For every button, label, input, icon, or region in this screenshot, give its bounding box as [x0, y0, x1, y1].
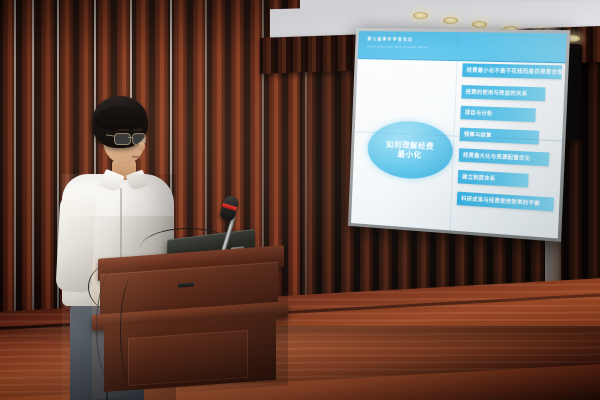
- slide-bullet-text: 建立制度体系: [462, 173, 496, 182]
- slide-bullet-text: 经费的使用与效益的关系: [466, 88, 528, 97]
- power-cable: [120, 276, 147, 388]
- presenter-nose: [139, 142, 145, 151]
- slide-bullet-text: 科研成果与经费使用效率的平衡: [461, 195, 540, 207]
- screen-surface: 第七届青年学者论坛 Cost-reduction with clinical f…: [351, 31, 567, 238]
- slide-topic-oval: 如何理解经费 最小化: [367, 120, 454, 181]
- slide-bullet-bar: 项目与分析: [460, 106, 535, 122]
- slide: 第七届青年学者论坛 Cost-reduction with clinical f…: [351, 31, 567, 238]
- downlight-icon: [443, 17, 458, 24]
- slide-bullet-bar: 经费的使用与效益的关系: [461, 85, 545, 101]
- slide-bullet-bar: 建立制度体系: [458, 170, 529, 188]
- glasses-icon: [114, 133, 131, 145]
- projection-screen: 第七届青年学者论坛 Cost-reduction with clinical f…: [348, 28, 570, 242]
- slide-bullet-list: 经费最小化不是不花钱而是花得更合理 经费的使用与效益的关系 项目与分析 预算与结…: [456, 63, 562, 219]
- slide-topic-line-2: 最小化: [397, 149, 421, 160]
- slide-header-title-cn: 第七届青年学者论坛: [367, 36, 413, 43]
- slide-bullet-bar: 科研成果与经费使用效率的平衡: [457, 191, 554, 211]
- presentation-photo: 第七届青年学者论坛 Cost-reduction with clinical f…: [0, 0, 600, 400]
- slide-bullet-bar: 经费最大化与资源配置优化: [459, 149, 550, 167]
- slide-bullet-text: 项目与分析: [465, 109, 493, 117]
- slide-bullet-text: 经费最大化与资源配置优化: [463, 152, 531, 163]
- glasses-bridge: [128, 137, 133, 138]
- slide-bullet-bar: 经费最小化不是不花钱而是花得更合理: [462, 63, 562, 79]
- downlight-icon: [413, 12, 428, 19]
- screen-frame: 第七届青年学者论坛 Cost-reduction with clinical f…: [348, 28, 570, 242]
- slide-bullet-text: 经费最小化不是不花钱而是花得更合理: [467, 66, 562, 76]
- downlight-icon: [472, 21, 487, 28]
